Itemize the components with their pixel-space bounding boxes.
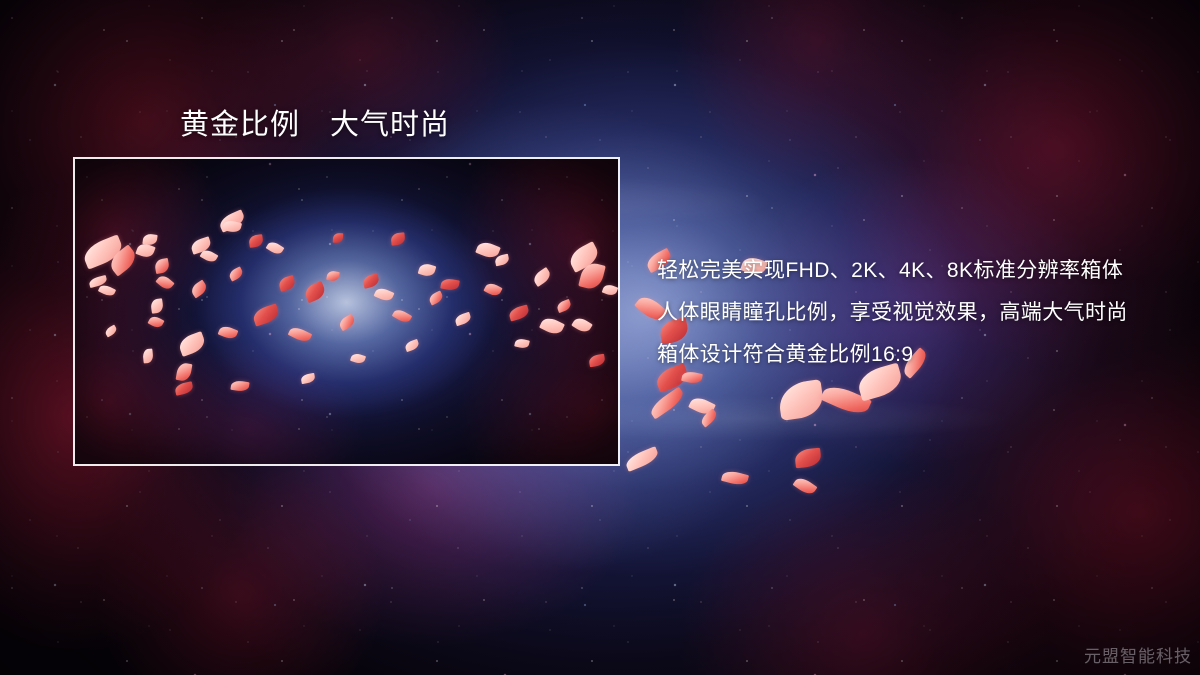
- slide-canvas: 黄金比例 大气时尚 轻松完美实现FHD、2K、4K、8K标准分辨率箱体 人体眼睛…: [0, 0, 1200, 675]
- body-line-1: 轻松完美实现FHD、2K、4K、8K标准分辨率箱体: [657, 250, 1177, 292]
- framed-image-scene: [75, 159, 618, 464]
- slide-body-text: 轻松完美实现FHD、2K、4K、8K标准分辨率箱体 人体眼睛瞳孔比例，享受视觉效…: [657, 250, 1177, 376]
- body-line-2: 人体眼睛瞳孔比例，享受视觉效果，高端大气时尚: [657, 292, 1177, 334]
- framed-image-panel: [73, 157, 620, 466]
- watermark-text: 元盟智能科技: [1084, 642, 1192, 667]
- slide-title: 黄金比例 大气时尚: [180, 101, 450, 143]
- body-line-3: 箱体设计符合黄金比例16:9: [657, 334, 1177, 376]
